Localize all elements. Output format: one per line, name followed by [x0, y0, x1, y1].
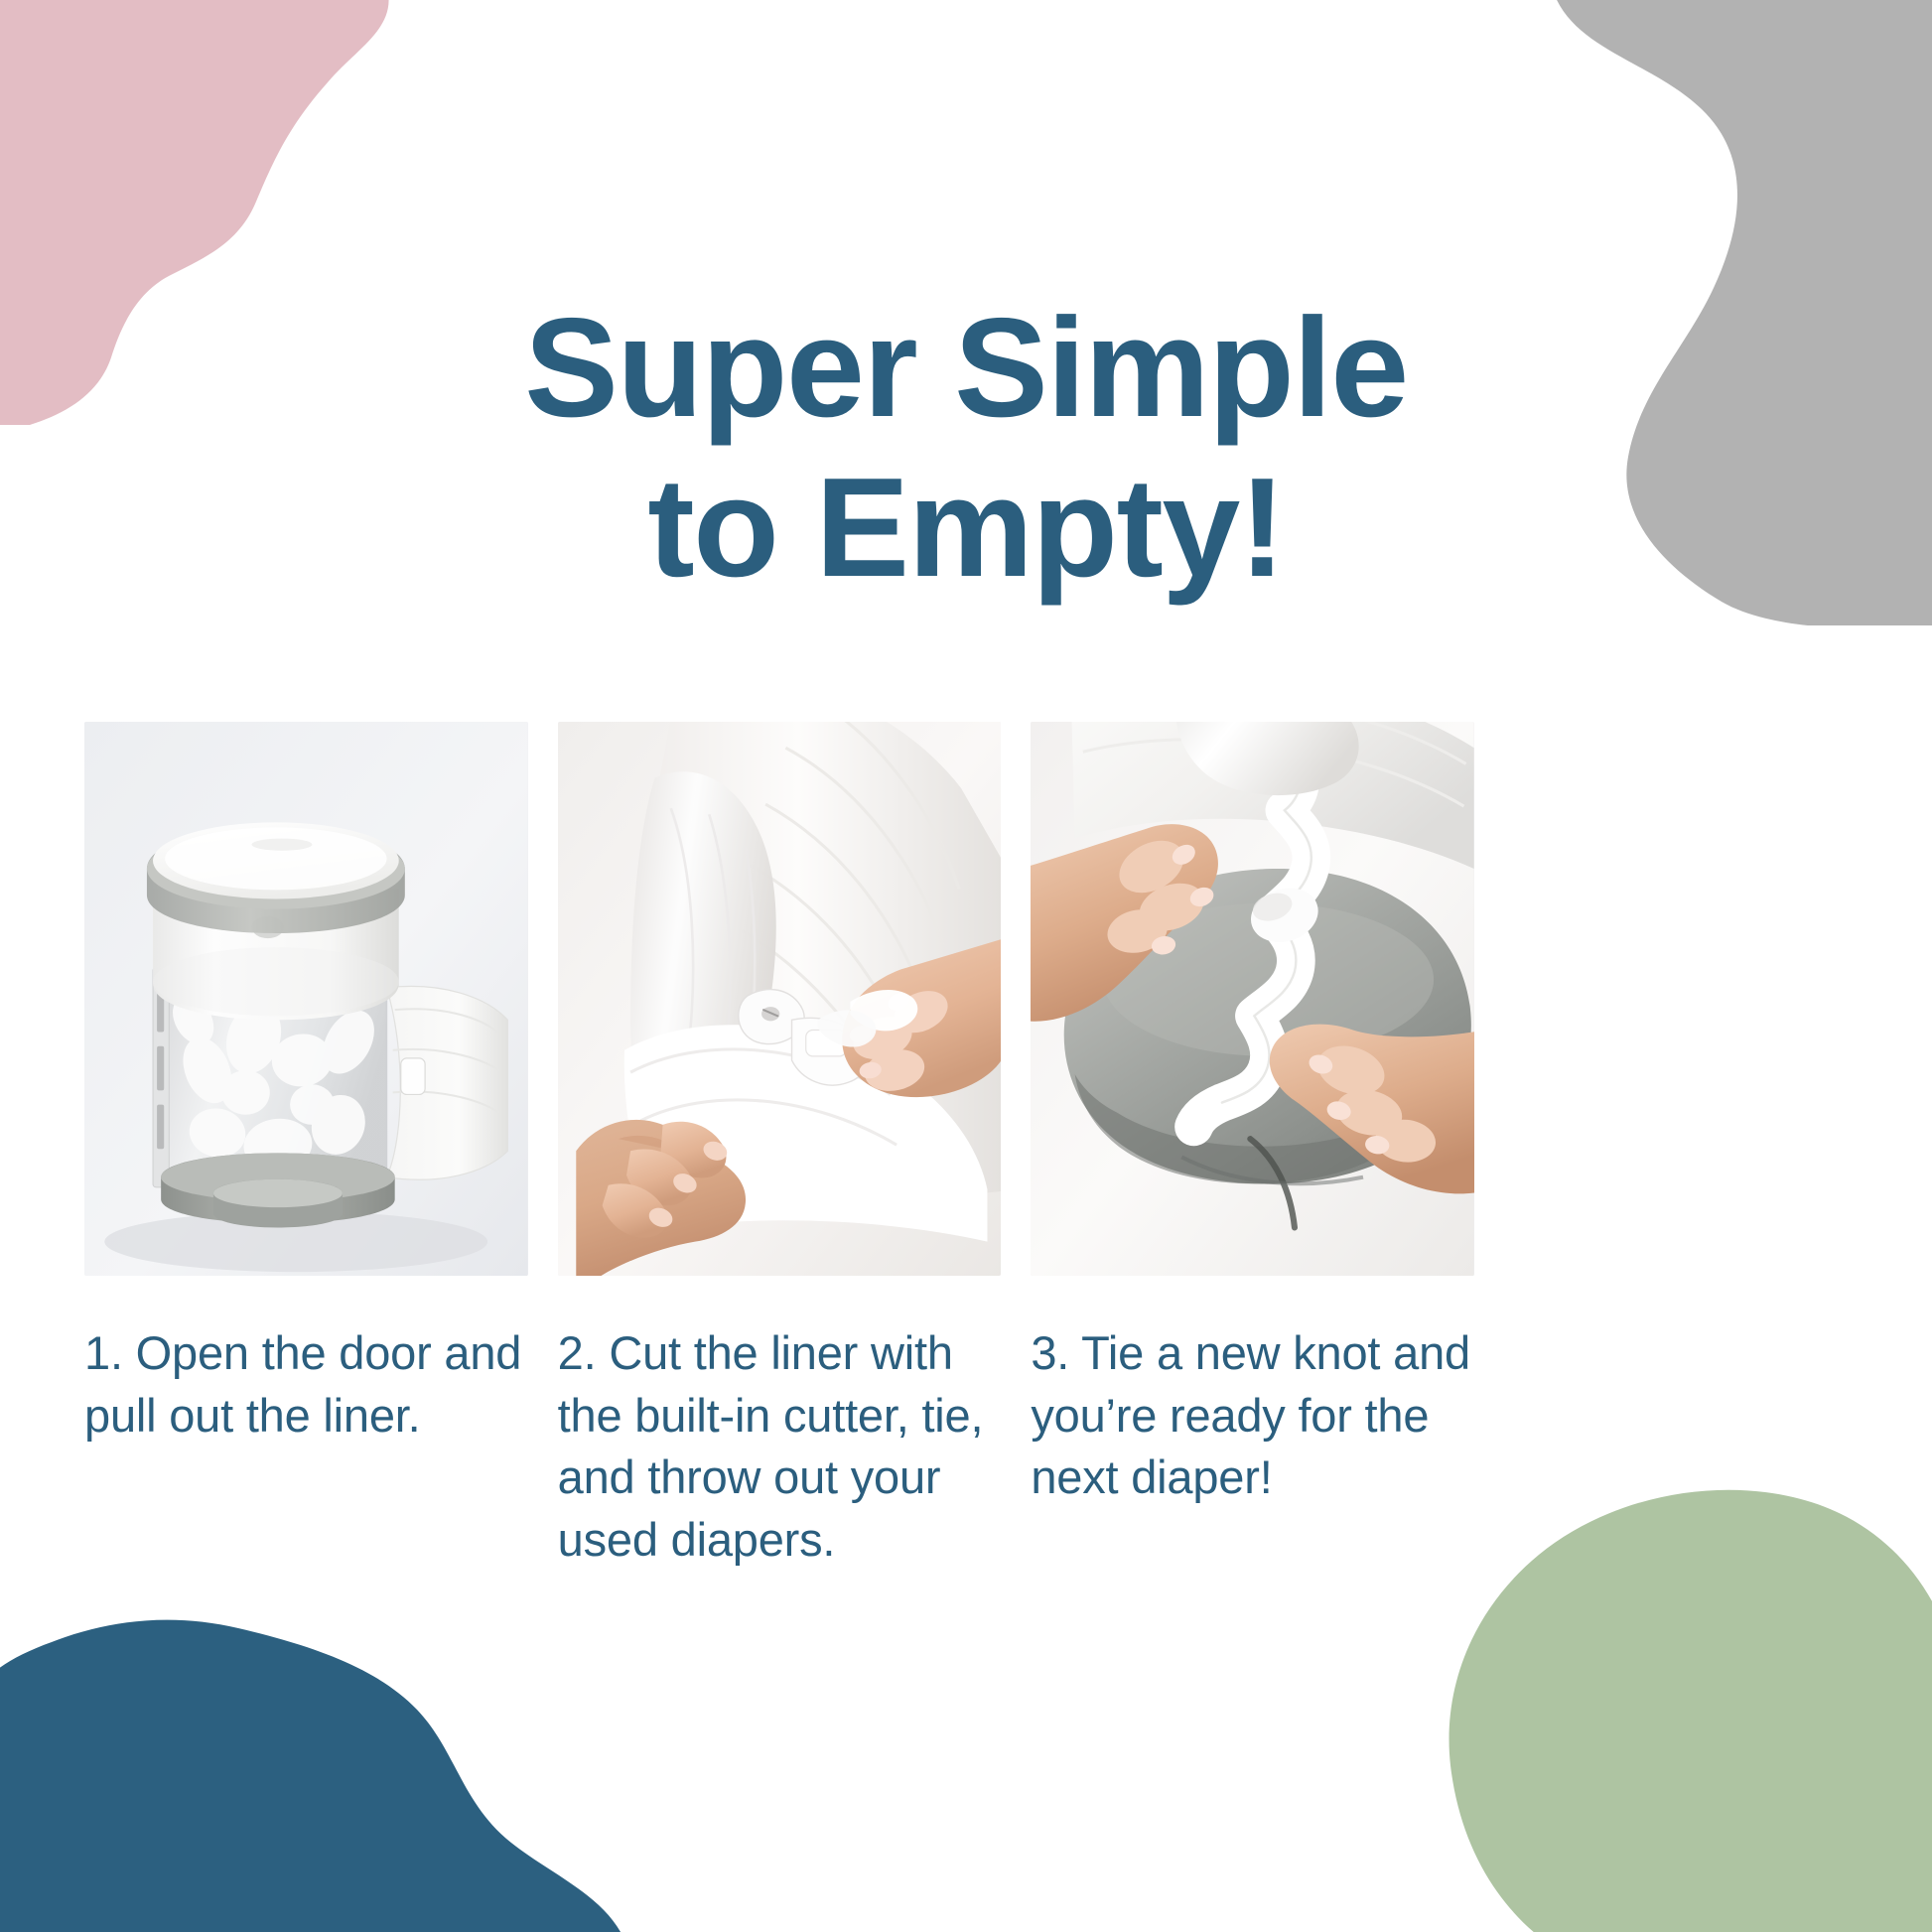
- steps-row: 1. Open the door and pull out the liner.: [84, 722, 1474, 1617]
- step-1-caption: 1. Open the door and pull out the liner.: [84, 1322, 528, 1447]
- page-title-line-2: to Empty!: [0, 449, 1932, 608]
- page-title: Super Simple to Empty!: [0, 289, 1932, 608]
- step-1: 1. Open the door and pull out the liner.: [84, 722, 528, 1617]
- cutting-liner-with-built-in-cutter-photo: [558, 722, 1002, 1276]
- poster-canvas: Super Simple to Empty!: [0, 0, 1932, 1932]
- step-3: 3. Tie a new knot and you’re ready for t…: [1031, 722, 1474, 1617]
- tying-new-knot-in-liner-photo: [1031, 722, 1474, 1276]
- decorative-blob-bottom-right-green: [1422, 1442, 1932, 1932]
- diaper-pail-open-with-liner-photo: [84, 722, 528, 1276]
- step-3-caption: 3. Tie a new knot and you’re ready for t…: [1031, 1322, 1474, 1509]
- page-title-line-1: Super Simple: [0, 289, 1932, 448]
- step-2-caption: 2. Cut the liner with the built-in cutte…: [558, 1322, 1002, 1571]
- step-2: 2. Cut the liner with the built-in cutte…: [558, 722, 1002, 1617]
